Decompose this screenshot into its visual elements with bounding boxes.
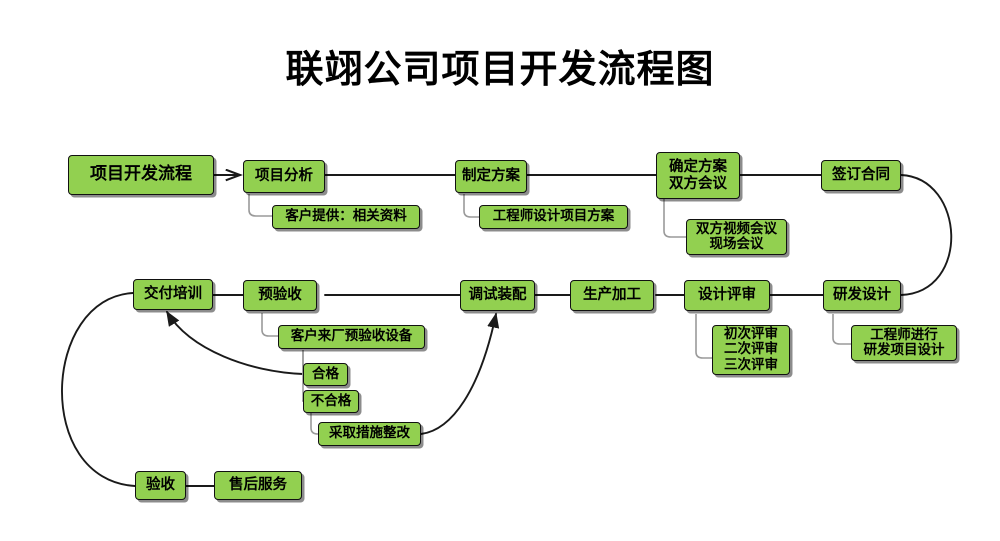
node-after-sales[interactable]: 售后服务 bbox=[214, 471, 302, 500]
link-preaccept-note bbox=[262, 313, 278, 336]
node-project-development-process[interactable]: 项目开发流程 bbox=[68, 155, 214, 195]
link-analysis-note bbox=[249, 194, 272, 216]
link-delivery-to-acceptance bbox=[62, 293, 135, 486]
flowchart-canvas: 联翊公司项目开发流程图 bbox=[0, 0, 1000, 541]
node-confirm-note[interactable]: 双方视频会议 现场会议 bbox=[686, 219, 787, 255]
node-fail[interactable]: 不合格 bbox=[303, 390, 359, 413]
node-pre-acceptance[interactable]: 预验收 bbox=[243, 280, 317, 311]
node-make-plan[interactable]: 制定方案 bbox=[455, 160, 527, 193]
node-project-analysis[interactable]: 项目分析 bbox=[243, 160, 325, 193]
link-rnd-note bbox=[833, 314, 851, 344]
node-assembly-debug[interactable]: 调试装配 bbox=[460, 280, 535, 311]
connector-layer bbox=[0, 0, 1000, 541]
link-review-note bbox=[696, 314, 712, 358]
link-contract-to-rnd bbox=[901, 175, 951, 295]
node-confirm-plan-meeting[interactable]: 确定方案 双方会议 bbox=[656, 152, 740, 199]
node-analysis-note[interactable]: 客户提供：相关资料 bbox=[272, 205, 420, 229]
node-sign-contract[interactable]: 签订合同 bbox=[821, 160, 901, 191]
node-rectify[interactable]: 采取措施整改 bbox=[318, 422, 421, 446]
link-plan-note bbox=[464, 194, 479, 217]
node-pass[interactable]: 合格 bbox=[303, 363, 348, 386]
link-rectify-to-assembly bbox=[421, 314, 496, 434]
node-review-note[interactable]: 初次评审 二次评审 三次评审 bbox=[712, 325, 790, 375]
node-design-review[interactable]: 设计评审 bbox=[684, 280, 770, 311]
node-rnd-design[interactable]: 研发设计 bbox=[823, 280, 901, 311]
node-plan-note[interactable]: 工程师设计项目方案 bbox=[479, 205, 628, 229]
node-acceptance[interactable]: 验收 bbox=[135, 471, 186, 500]
node-production[interactable]: 生产加工 bbox=[570, 280, 654, 311]
node-rnd-note[interactable]: 工程师进行 研发项目设计 bbox=[851, 325, 957, 361]
node-delivery-training[interactable]: 交付培训 bbox=[133, 279, 213, 310]
link-confirm-note bbox=[664, 199, 686, 237]
node-pre-acceptance-note[interactable]: 客户来厂预验收设备 bbox=[278, 325, 425, 349]
